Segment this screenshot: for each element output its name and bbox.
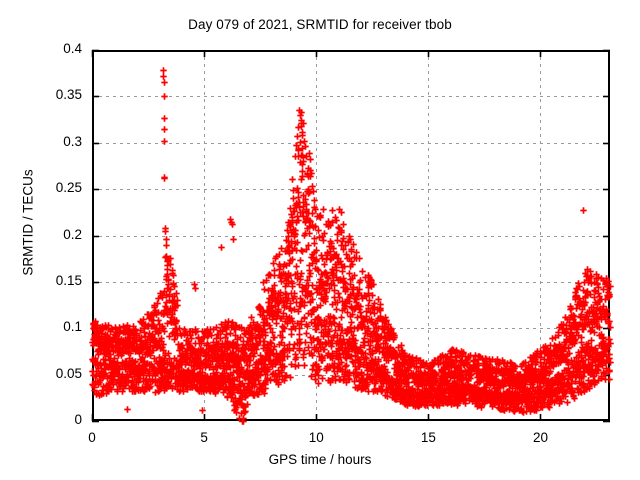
y-tick-label: 0 — [12, 412, 82, 427]
x-tick-label: 15 — [408, 430, 448, 445]
y-tick-label: 0.05 — [12, 366, 82, 381]
x-tick-label: 10 — [296, 430, 336, 445]
y-tick-label: 0.4 — [12, 41, 82, 56]
x-axis-label: GPS time / hours — [0, 452, 640, 467]
y-tick-label: 0.15 — [12, 273, 82, 288]
chart-page: Day 079 of 2021, SRMTID for receiver tbo… — [0, 0, 640, 480]
x-tick-label: 0 — [72, 430, 112, 445]
x-tick-label: 20 — [520, 430, 560, 445]
x-tick-label: 5 — [184, 430, 224, 445]
y-tick-label: 0.35 — [12, 87, 82, 102]
plot-frame — [92, 50, 610, 421]
y-tick-label: 0.3 — [12, 134, 82, 149]
page-title: Day 079 of 2021, SRMTID for receiver tbo… — [0, 17, 640, 32]
y-tick-label: 0.1 — [12, 319, 82, 334]
y-tick-label: 0.25 — [12, 180, 82, 195]
y-tick-label: 0.2 — [12, 227, 82, 242]
